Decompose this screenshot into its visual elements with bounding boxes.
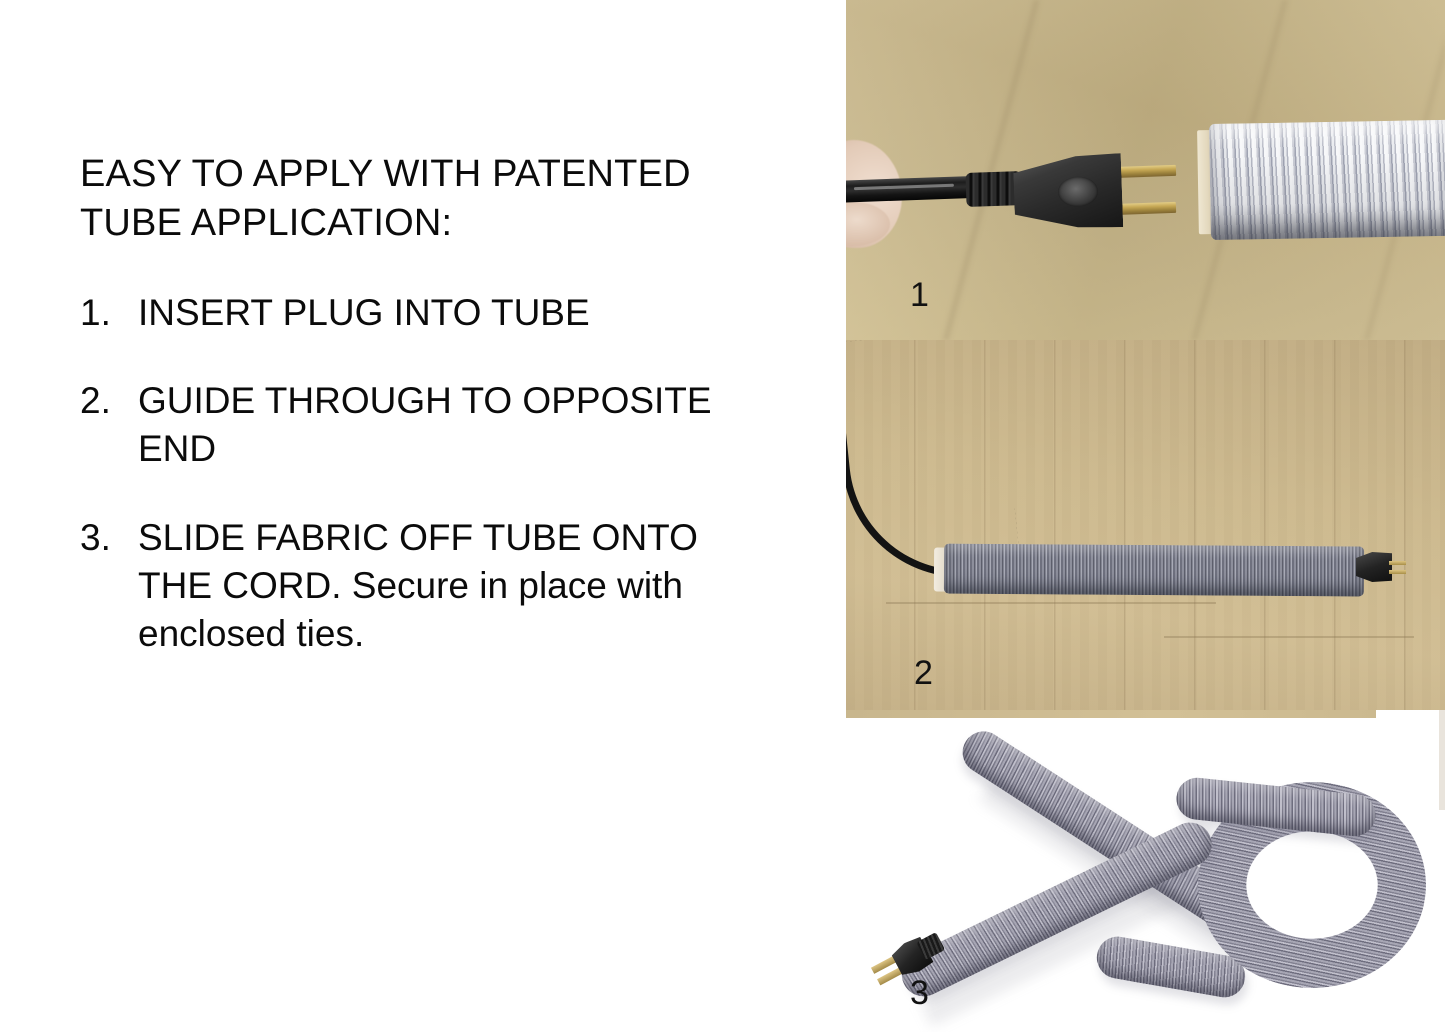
instructions-panel: EASY TO APPLY WITH PATENTED TUBE APPLICA… <box>0 0 846 1032</box>
step-text-1: INSERT PLUG INTO TUBE <box>138 289 758 337</box>
step-item-2: 2. GUIDE THROUGH TO OPPOSITE END <box>80 377 806 473</box>
plug-prong-bottom <box>1389 570 1406 574</box>
plug-body <box>1356 552 1392 582</box>
photo-label-2: 2 <box>914 656 933 690</box>
step-text-3: SLIDE FABRIC OFF TUBE ONTO THE CORD. Sec… <box>138 514 758 658</box>
plug-prong-top <box>1389 561 1406 565</box>
step-item-3: 3. SLIDE FABRIC OFF TUBE ONTO THE CORD. … <box>80 514 806 658</box>
step-number-1: 1. <box>80 289 138 337</box>
step-text-2: GUIDE THROUGH TO OPPOSITE END <box>138 377 758 473</box>
photo-label-1: 1 <box>910 278 929 312</box>
step-number-3: 3. <box>80 514 138 562</box>
floor-edge-strip <box>846 710 1376 718</box>
photo-step-1 <box>846 0 1445 340</box>
photo-right-edge <box>1439 710 1445 810</box>
fabric-tube <box>1197 120 1445 242</box>
ruched-fabric <box>1209 120 1445 240</box>
slide-root: EASY TO APPLY WITH PATENTED TUBE APPLICA… <box>0 0 1445 1032</box>
fabric-tube <box>934 543 1364 596</box>
step-item-1: 1. INSERT PLUG INTO TUBE <box>80 289 806 337</box>
floor-seam <box>1164 636 1414 638</box>
ruched-fabric <box>944 544 1364 597</box>
photo-step-3 <box>846 710 1445 1032</box>
power-plug <box>1356 552 1402 582</box>
steps-list: 1. INSERT PLUG INTO TUBE 2. GUIDE THROUG… <box>80 289 806 658</box>
photo-label-3: 3 <box>910 976 929 1010</box>
photo-column: 1 2 <box>846 0 1445 1032</box>
page-title: EASY TO APPLY WITH PATENTED TUBE APPLICA… <box>80 150 740 247</box>
photo-step-2 <box>846 340 1445 710</box>
floor-seam <box>886 602 1216 604</box>
step-number-2: 2. <box>80 377 138 425</box>
